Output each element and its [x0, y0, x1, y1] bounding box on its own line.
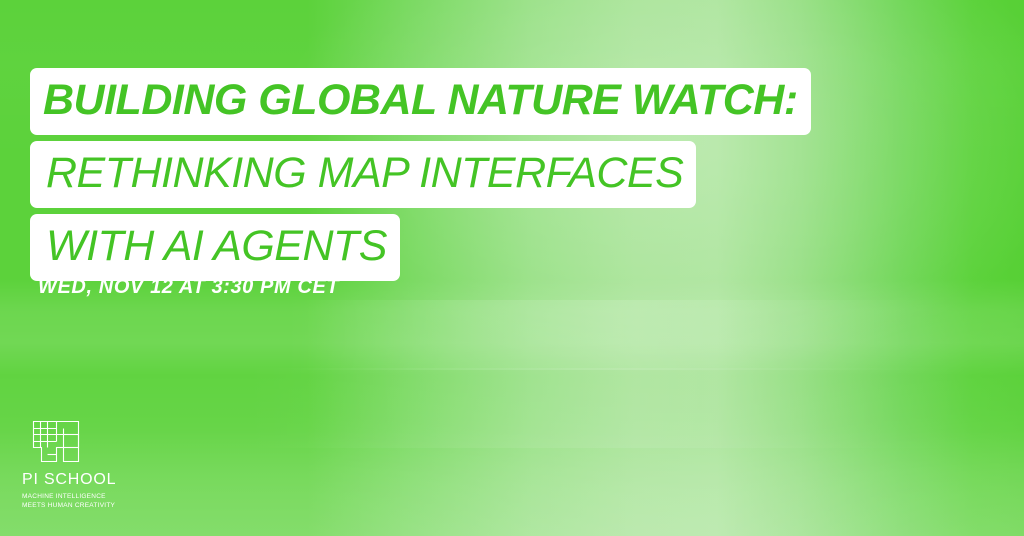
headline-line-2: RETHINKING MAP INTERFACES [30, 141, 696, 208]
headline-group: BUILDING GLOBAL NATURE WATCH: RETHINKING… [30, 68, 811, 287]
event-date-time: WED, NOV 12 AT 3:30 PM CET [38, 276, 339, 299]
logo-tagline: MACHINE INTELLIGENCE MEETS HUMAN CREATIV… [22, 492, 116, 511]
headline-line-3: WITH AI AGENTS [30, 214, 400, 281]
background-bottom-wash [0, 430, 1024, 536]
headline-line-1: BUILDING GLOBAL NATURE WATCH: [30, 68, 811, 135]
logo-tagline-line-2: MEETS HUMAN CREATIVITY [22, 501, 116, 510]
event-banner: BUILDING GLOBAL NATURE WATCH: RETHINKING… [0, 0, 1024, 536]
headline-row-2: RETHINKING MAP INTERFACES [30, 141, 811, 208]
headline-row-1: BUILDING GLOBAL NATURE WATCH: [30, 68, 811, 135]
headline-row-3: WITH AI AGENTS [30, 214, 811, 281]
logo-tagline-line-1: MACHINE INTELLIGENCE [22, 492, 116, 501]
pi-school-grid-mark-icon [32, 420, 80, 463]
background-band-upper [0, 300, 1024, 370]
pi-school-logo: PI SCHOOL MACHINE INTELLIGENCE MEETS HUM… [22, 420, 116, 511]
logo-wordmark: PI SCHOOL [22, 472, 116, 488]
